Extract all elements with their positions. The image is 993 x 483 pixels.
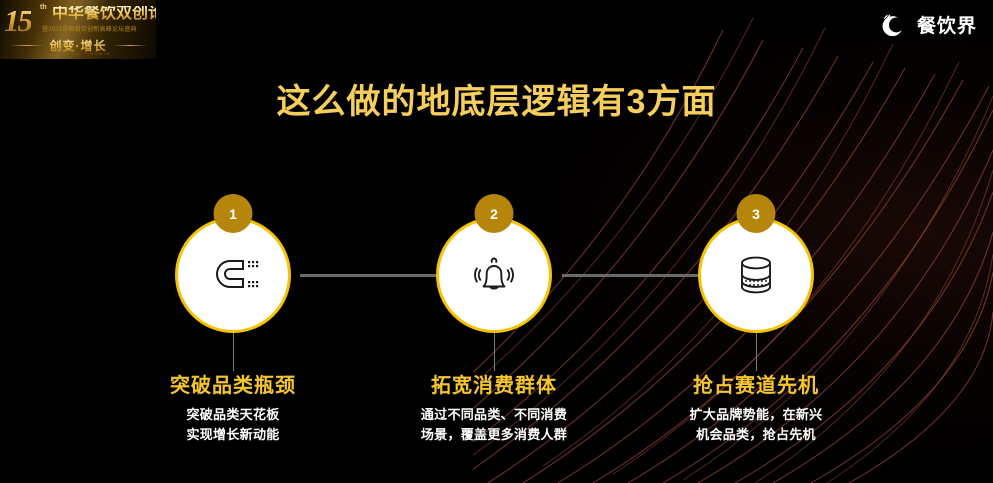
- node-1-disc: [175, 217, 291, 333]
- database-cylinder-icon: [728, 247, 784, 303]
- caption-3: 抢占赛道先机 扩大品牌势能，在新兴 机会品类，抢占先机: [626, 374, 886, 444]
- caption-2-description: 通过不同品类、不同消费 场景，覆盖更多消费人群: [364, 405, 624, 444]
- caption-1-description: 突破品类天花板 实现增长新动能: [103, 405, 363, 444]
- bell-ringing-icon: [465, 246, 523, 304]
- caption-1-line-2: 实现增长新动能: [103, 425, 363, 445]
- magnet-icon: [205, 247, 261, 303]
- caption-2-line-1: 通过不同品类、不同消费: [364, 405, 624, 425]
- slide-canvas: 15 th 中华餐饮双创论坛 暨2021中国餐饮创新高峰论坛盛典 创变·增长 I…: [0, 0, 993, 483]
- caption-3-description: 扩大品牌势能，在新兴 机会品类，抢占先机: [626, 405, 886, 444]
- caption-1-line-1: 突破品类天花板: [103, 405, 363, 425]
- node-2-disc: [436, 217, 552, 333]
- caption-2-line-2: 场景，覆盖更多消费人群: [364, 425, 624, 445]
- caption-3-title: 抢占赛道先机: [626, 374, 886, 399]
- node-2-badge: 2: [475, 194, 514, 233]
- caption-1: 突破品类瓶颈 突破品类天花板 实现增长新动能: [103, 374, 363, 444]
- caption-3-line-2: 机会品类，抢占先机: [626, 425, 886, 445]
- diagram-node-1[interactable]: 1: [175, 217, 291, 333]
- diagram-node-2[interactable]: 2: [436, 217, 552, 333]
- diagram-node-3[interactable]: 3: [698, 217, 814, 333]
- stem-line-3: [756, 333, 757, 371]
- caption-3-line-1: 扩大品牌势能，在新兴: [626, 405, 886, 425]
- caption-2: 拓宽消费群体 通过不同品类、不同消费 场景，覆盖更多消费人群: [364, 374, 624, 444]
- node-3-badge: 3: [737, 194, 776, 233]
- node-3-disc: [698, 217, 814, 333]
- stem-line-2: [494, 333, 495, 371]
- caption-1-title: 突破品类瓶颈: [103, 374, 363, 399]
- three-step-diagram: 1: [0, 0, 993, 483]
- stem-line-1: [233, 333, 234, 371]
- node-1-badge: 1: [214, 194, 253, 233]
- caption-2-title: 拓宽消费群体: [364, 374, 624, 399]
